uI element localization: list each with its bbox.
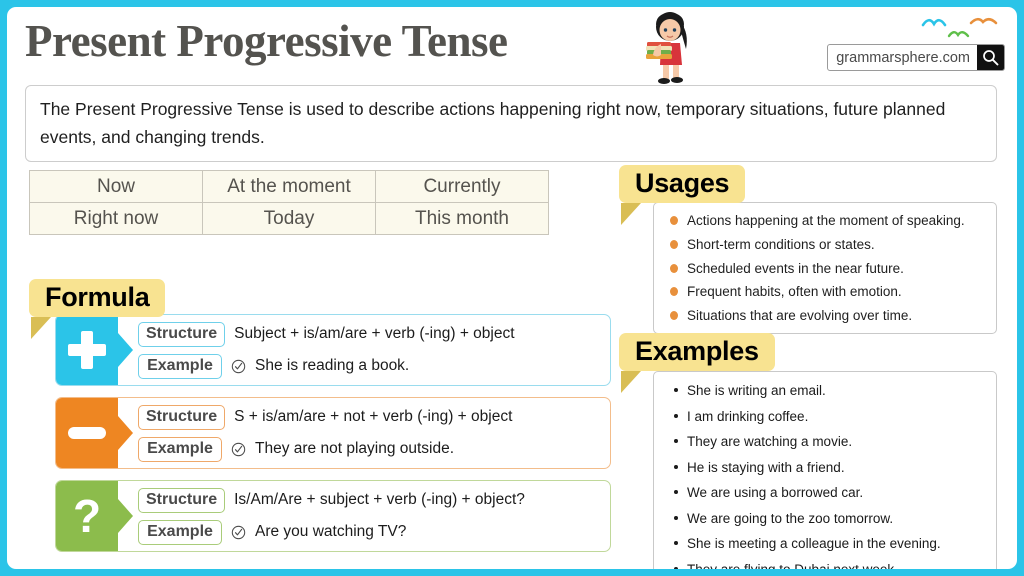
list-item: Actions happening at the moment of speak… xyxy=(668,212,984,229)
search-button[interactable] xyxy=(977,45,1004,70)
formula-body: Structure Subject + is/am/are + verb (-i… xyxy=(118,315,610,385)
structure-line: Structure S + is/am/are + not + verb (-i… xyxy=(138,405,602,430)
minus-icon xyxy=(68,427,106,439)
arrow-pointer xyxy=(118,499,133,533)
example-line: Example They are not playing outside. xyxy=(138,437,602,462)
structure-line: Structure Subject + is/am/are + verb (-i… xyxy=(138,322,602,347)
usages-section-tag: Usages xyxy=(619,165,745,203)
list-item: Scheduled events in the near future. xyxy=(668,260,984,277)
example-line: Example Are you watching TV? xyxy=(138,520,602,545)
bullet-dot-icon xyxy=(670,264,678,273)
bullet-dot-icon xyxy=(674,490,678,494)
poster-header: Present Progressive Tense xyxy=(7,7,1017,85)
example-sentence: She is writing an email. xyxy=(687,383,826,398)
example-line: Example She is reading a book. xyxy=(138,354,602,379)
poster-inner-panel: Present Progressive Tense xyxy=(7,7,1017,569)
bullet-dot-icon xyxy=(674,541,678,545)
check-circle-icon xyxy=(231,359,246,374)
table-cell: Currently xyxy=(376,171,549,203)
tag-fold-corner xyxy=(31,317,51,339)
bullet-dot-icon xyxy=(674,567,678,569)
question-mark-icon: ? xyxy=(73,493,101,539)
list-item: I am drinking coffee. xyxy=(672,408,984,426)
table-cell: Today xyxy=(203,203,376,235)
structure-label: Structure xyxy=(138,405,225,430)
example-text: She is reading a book. xyxy=(255,357,409,375)
usages-panel: Actions happening at the moment of speak… xyxy=(653,202,997,334)
examples-tag-label: Examples xyxy=(619,333,775,371)
usages-tag-label: Usages xyxy=(619,165,745,203)
table-row: Now At the moment Currently xyxy=(30,171,549,203)
formula-row-negative: Structure S + is/am/are + not + verb (-i… xyxy=(55,397,611,469)
formula-tag-label: Formula xyxy=(29,279,165,317)
example-sentence: They are flying to Dubai next week. xyxy=(687,562,898,569)
birds-decoration xyxy=(919,13,1005,43)
page-title: Present Progressive Tense xyxy=(25,15,507,67)
usage-text: Situations that are evolving over time. xyxy=(687,308,912,323)
arrow-pointer xyxy=(118,333,133,367)
table-row: Right now Today This month xyxy=(30,203,549,235)
structure-line: Structure Is/Am/Are + subject + verb (-i… xyxy=(138,488,602,513)
bullet-dot-icon xyxy=(674,516,678,520)
list-item: He is staying with a friend. xyxy=(672,459,984,477)
search-box[interactable]: grammarsphere.com xyxy=(827,44,1005,71)
arrow-pointer xyxy=(118,416,133,450)
example-sentence: We are going to the zoo tomorrow. xyxy=(687,511,893,526)
question-sign-block: ? xyxy=(56,481,118,551)
structure-text: Is/Am/Are + subject + verb (-ing) + obje… xyxy=(234,491,525,509)
time-expressions-table: Now At the moment Currently Right now To… xyxy=(29,170,549,235)
example-label: Example xyxy=(138,437,222,462)
plus-icon xyxy=(68,331,106,369)
list-item: Frequent habits, often with emotion. xyxy=(668,283,984,300)
formula-body: Structure Is/Am/Are + subject + verb (-i… xyxy=(118,481,610,551)
table-cell: This month xyxy=(376,203,549,235)
bullet-dot-icon xyxy=(670,240,678,249)
description-box: The Present Progressive Tense is used to… xyxy=(25,85,997,162)
infographic-poster: Present Progressive Tense xyxy=(0,0,1024,576)
structure-label: Structure xyxy=(138,322,225,347)
example-text: Are you watching TV? xyxy=(255,523,406,541)
example-sentence: I am drinking coffee. xyxy=(687,409,808,424)
check-circle-icon xyxy=(231,442,246,457)
list-item: We are using a borrowed car. xyxy=(672,484,984,502)
negative-sign-block xyxy=(56,398,118,468)
list-item: We are going to the zoo tomorrow. xyxy=(672,510,984,528)
formula-section-tag: Formula xyxy=(29,279,165,317)
usage-text: Scheduled events in the near future. xyxy=(687,261,904,276)
bullet-dot-icon xyxy=(670,311,678,320)
girl-carrying-books-illustration xyxy=(637,11,701,85)
bullet-dot-icon xyxy=(670,287,678,296)
bullet-dot-icon xyxy=(670,216,678,225)
structure-label: Structure xyxy=(138,488,225,513)
search-icon xyxy=(982,49,999,66)
structure-text: Subject + is/am/are + verb (-ing) + obje… xyxy=(234,325,514,343)
formula-row-question: ? Structure Is/Am/Are + subject + verb (… xyxy=(55,480,611,552)
tag-fold-corner xyxy=(621,371,641,393)
table-cell: At the moment xyxy=(203,171,376,203)
example-label: Example xyxy=(138,354,222,379)
usage-text: Actions happening at the moment of speak… xyxy=(687,213,965,228)
structure-text: S + is/am/are + not + verb (-ing) + obje… xyxy=(234,408,512,426)
list-item: They are flying to Dubai next week. xyxy=(672,561,984,569)
positive-sign-block xyxy=(56,315,118,385)
check-circle-icon xyxy=(231,525,246,540)
example-sentence: They are watching a movie. xyxy=(687,434,852,449)
example-text: They are not playing outside. xyxy=(255,440,454,458)
list-item: She is meeting a colleague in the evenin… xyxy=(672,535,984,553)
list-item: They are watching a movie. xyxy=(672,433,984,451)
search-url-text[interactable]: grammarsphere.com xyxy=(828,45,977,70)
usage-text: Frequent habits, often with emotion. xyxy=(687,284,902,299)
list-item: She is writing an email. xyxy=(672,382,984,400)
examples-section-tag: Examples xyxy=(619,333,775,371)
example-sentence: He is staying with a friend. xyxy=(687,460,845,475)
formula-rows-container: Structure Subject + is/am/are + verb (-i… xyxy=(55,314,611,563)
list-item: Situations that are evolving over time. xyxy=(668,307,984,324)
table-cell: Now xyxy=(30,171,203,203)
example-label: Example xyxy=(138,520,222,545)
list-item: Short-term conditions or states. xyxy=(668,236,984,253)
examples-panel: She is writing an email. I am drinking c… xyxy=(653,371,997,569)
example-sentence: We are using a borrowed car. xyxy=(687,485,863,500)
bullet-dot-icon xyxy=(674,439,678,443)
formula-body: Structure S + is/am/are + not + verb (-i… xyxy=(118,398,610,468)
examples-list: She is writing an email. I am drinking c… xyxy=(654,372,996,569)
usages-list: Actions happening at the moment of speak… xyxy=(654,203,996,333)
table-cell: Right now xyxy=(30,203,203,235)
tag-fold-corner xyxy=(621,203,641,225)
bullet-dot-icon xyxy=(674,388,678,392)
usage-text: Short-term conditions or states. xyxy=(687,237,875,252)
bullet-dot-icon xyxy=(674,414,678,418)
example-sentence: She is meeting a colleague in the evenin… xyxy=(687,536,941,551)
bullet-dot-icon xyxy=(674,465,678,469)
formula-row-positive: Structure Subject + is/am/are + verb (-i… xyxy=(55,314,611,386)
